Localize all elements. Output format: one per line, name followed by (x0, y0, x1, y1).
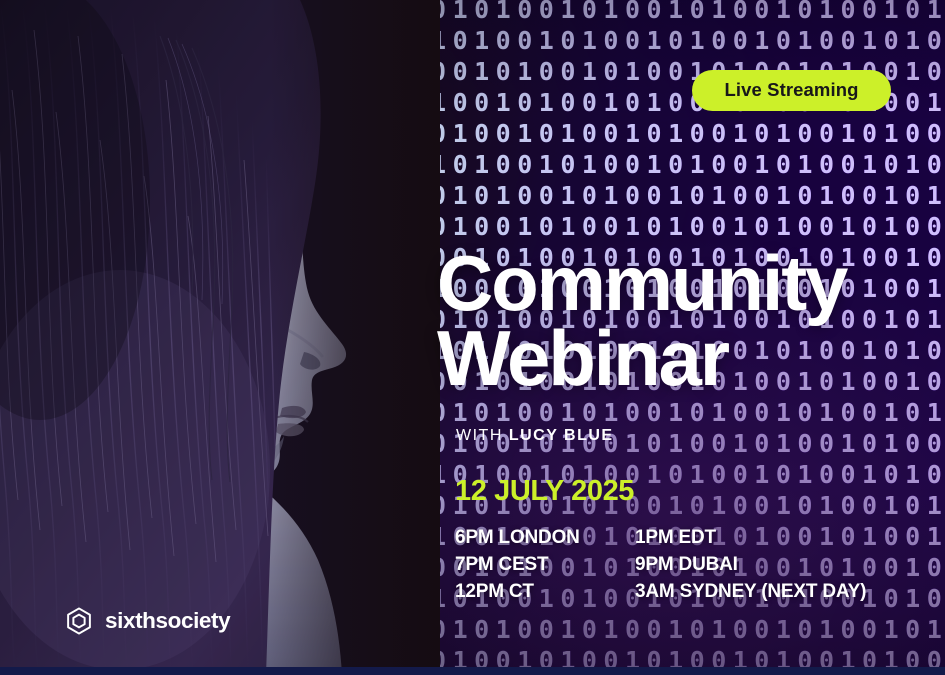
timezone-entry: 7PM CEST (455, 555, 635, 574)
webinar-poster: 0101001010010100101001010010100101001010… (0, 0, 945, 675)
presenter-prefix: WITH (456, 427, 503, 444)
portrait-illustration (0, 0, 440, 675)
bottom-accent-strip (0, 667, 945, 675)
timezone-entry: 3AM SYDNEY (NEXT DAY) (635, 582, 866, 601)
event-date: 12 JULY 2025 (455, 477, 634, 506)
timezone-entry: 12PM CT (455, 582, 635, 601)
timezone-row: 7PM CEST9PM DUBAI (455, 551, 915, 578)
live-streaming-badge-label: Live Streaming (724, 81, 858, 100)
timezone-entry: 9PM DUBAI (635, 555, 738, 574)
headline-line-1: Community (437, 247, 942, 320)
headline: Community Webinar (437, 247, 942, 394)
brand-wordmark: sixthsociety (105, 610, 230, 633)
timezone-row: 6PM LONDON1PM EDT (455, 524, 915, 551)
timezone-row: 12PM CT3AM SYDNEY (NEXT DAY) (455, 578, 915, 605)
timezone-entry: 1PM EDT (635, 528, 716, 547)
timezone-list: 6PM LONDON1PM EDT7PM CEST9PM DUBAI12PM C… (455, 524, 915, 605)
presenter-name: LUCY BLUE (509, 427, 614, 444)
presenter-portrait (0, 0, 440, 675)
timezone-entry: 6PM LONDON (455, 528, 635, 547)
brand-logo[interactable]: sixthsociety (64, 606, 230, 636)
live-streaming-badge[interactable]: Live Streaming (692, 70, 891, 111)
headline-line-2: Webinar (437, 322, 942, 395)
hexagon-outline-icon (64, 606, 94, 636)
presenter-credit: WITH LUCY BLUE (456, 428, 614, 444)
